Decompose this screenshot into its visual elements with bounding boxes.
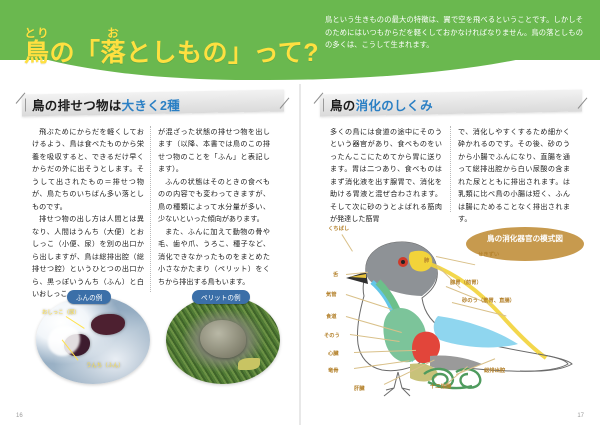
leaf-accent (238, 358, 260, 370)
diagram-label-hai: 肺 (424, 256, 429, 264)
paragraph: また、ふんに加えて動物の骨や毛、歯や爪、うろこ、種子など、消化できなかったものを… (158, 226, 270, 288)
paragraph: で、消化しやすくするため細かく砕かれるのです。その後、砂のうから小腸でふんになり… (458, 126, 570, 226)
diagram-label-souhaishutsu: 総排出腔 (484, 366, 505, 374)
diagram-label-kanzou: 肝臓 (354, 384, 365, 392)
diagram-label-ryukotsu: 竜骨 (328, 366, 339, 374)
bird-anatomy-illustration (306, 224, 600, 399)
diagram-label-shinzou: 心臓 (328, 349, 339, 357)
right-column-divider (450, 126, 451, 212)
diagram-label-kuchibashi: くちばし (328, 224, 349, 232)
photo-caption-pellet: ペリットの例 (192, 290, 250, 304)
dropping-blob-1 (91, 314, 125, 335)
left-page: 鳥の排せつ物は大きく2種 飛ぶためにからだを軽くしておけるよう、鳥は食べたものか… (0, 84, 300, 425)
left-heading-plain: 鳥の排せつ物は (32, 99, 122, 113)
left-heading-highlight: 大きく2種 (122, 99, 180, 113)
bird-digestive-diagram: 鳥の消化器官の模式図 (306, 224, 600, 399)
right-column-2: で、消化しやすくするため細かく砕かれるのです。その後、砂のうから小腸でふんになり… (458, 126, 570, 226)
photo-pellet (166, 296, 280, 384)
photo-label-feces: うんち（ふん） (86, 361, 124, 369)
header-intro-text: 鳥という生きものの最大の特徴は、翼で空を飛べるということです。しかしそのためには… (325, 14, 583, 52)
left-column-divider (150, 126, 151, 292)
right-column-1: 多くの鳥には食道の途中にそのうという器官があり、食べものをいったんここにためてか… (330, 126, 442, 226)
ruby-o: お (101, 28, 127, 40)
page-number-right: 17 (577, 413, 584, 419)
paragraph: 多くの鳥には食道の途中にそのうという器官があり、食べものをいったんここにためてか… (330, 126, 442, 226)
diagram-label-senni: 腺胃（前胃） (450, 278, 482, 286)
diagram-label-sekizui: せきずい (478, 250, 499, 258)
paragraph: が混ざった状態の排せつ物を出します（以降、本書では鳥のこの排せつ物のことを「ふん… (158, 126, 270, 176)
paragraph: 排せつ物の出し方は人間とは異なり、人間はうんち（大便）とおしっこ（小便、尿）を別… (32, 213, 144, 300)
right-heading-plain: 鳥の (330, 99, 356, 113)
left-column-1: 飛ぶためにからだを軽くしておけるよう、鳥は食べたものから栄養を吸収すると、できる… (32, 126, 144, 301)
photo-label-urine: おしっこ（尿） (42, 308, 80, 316)
diagram-label-kikan: 気管 (326, 290, 337, 298)
book-spread: 鳥とりの「落おとしもの」って? 鳥という生きものの最大の特徴は、翼で空を飛べると… (0, 0, 600, 425)
photo-caption-droppings: ふんの例 (67, 290, 111, 304)
diagram-label-sonou: そのう (324, 331, 340, 339)
diagram-label-sunano: 砂のう（筋胃、直腸） (462, 296, 515, 304)
diagram-label-junishicho: 十二指腸 (430, 382, 451, 390)
pellet-mass (200, 320, 246, 358)
right-heading-highlight: 消化のしくみ (356, 99, 433, 113)
right-heading: 鳥の消化のしくみ (330, 95, 433, 114)
ribbon-tick (25, 98, 26, 111)
page-title: 鳥とりの「落おとしもの」って? (24, 28, 319, 69)
ruby-tori: とり (24, 28, 50, 40)
diagram-label-shokudo: 食道 (326, 312, 337, 320)
paragraph: ふんの状態はそのときの食べものの内容でも変わってきますが、鳥の種類によって水分量… (158, 176, 270, 226)
left-column-2: が混ざった状態の排せつ物を出します（以降、本書では鳥のこの排せつ物のことを「ふん… (158, 126, 270, 288)
right-page: 鳥の消化のしくみ 多くの鳥には食道の途中にそのうという器官があり、食べものをいっ… (300, 84, 600, 425)
ribbon-tick (323, 98, 324, 111)
page-number-left: 16 (16, 413, 23, 419)
left-heading: 鳥の排せつ物は大きく2種 (32, 95, 180, 114)
paragraph: 飛ぶためにからだを軽くしておけるよう、鳥は食べたものから栄養を吸収すると、できる… (32, 126, 144, 213)
diagram-label-shita: 舌 (333, 270, 338, 278)
